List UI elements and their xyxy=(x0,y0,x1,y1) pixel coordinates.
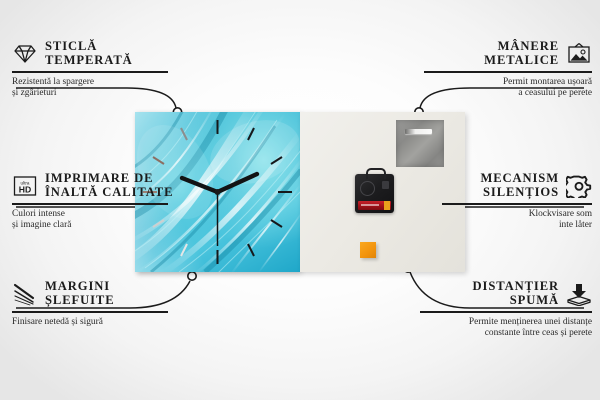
mechanism-knob xyxy=(382,181,389,189)
minute-hand xyxy=(218,174,258,192)
feature-subtitle-line: a ceasului pe perete xyxy=(410,88,592,100)
feature-title-line: DISTANȚIER xyxy=(473,280,559,294)
feature-title-line: MÂNERE xyxy=(484,40,559,54)
infographic-canvas: STICLĂ TEMPERATĂ Rezistentă la spargere … xyxy=(0,0,600,400)
feature-subtitle-line: Klockvisare som xyxy=(410,209,592,221)
feature-subtitle-line: Permit montarea ușoară xyxy=(410,77,592,89)
battery-terminal xyxy=(384,201,390,210)
svg-text:HD: HD xyxy=(19,184,31,194)
battery-band xyxy=(361,204,379,206)
feature-silent-mechanism: MECANISM SILENȚIOS Klockvisare som inte … xyxy=(410,172,592,232)
mechanism-hook xyxy=(366,168,386,179)
feature-title-line: SILENȚIOS xyxy=(480,186,559,200)
clock-mechanism xyxy=(355,174,394,213)
feature-subtitle-line: și imagine clară xyxy=(12,220,192,232)
diagonal-lines-icon xyxy=(12,282,38,306)
diamond-icon xyxy=(12,42,38,66)
battery xyxy=(358,201,391,210)
feature-divider xyxy=(420,311,592,312)
foam-spacer-pad xyxy=(360,242,376,258)
feature-title-line: METALICE xyxy=(484,54,559,68)
mechanism-dial xyxy=(360,181,375,196)
feature-title-line: MECANISM xyxy=(480,172,559,186)
feature-title-line: ȘLEFUITE xyxy=(45,294,115,308)
feature-divider xyxy=(12,203,168,204)
hands-center-cap xyxy=(215,189,221,195)
feature-divider xyxy=(442,203,592,204)
hanger-slot xyxy=(405,129,432,134)
feature-subtitle-line: Rezistentă la spargere xyxy=(12,77,192,89)
feature-title-line: ÎNALTĂ CALITATE xyxy=(45,186,173,200)
feature-polished-edges: MARGINI ȘLEFUITE Finisare netedă și sigu… xyxy=(12,280,192,328)
feature-subtitle-line: Culori intense xyxy=(12,209,192,221)
feature-foam-spacer: DISTANȚIER SPUMĂ Permite menținerea unei… xyxy=(406,280,592,340)
feature-subtitle-line: inte låter xyxy=(410,220,592,232)
feature-title-line: MARGINI xyxy=(45,280,115,294)
feature-subtitle-line: Permite menținerea unei distanțe xyxy=(406,317,592,329)
framed-picture-icon xyxy=(566,42,592,66)
feature-title-line: STICLĂ xyxy=(45,40,133,54)
feature-subtitle-line: Finisare netedă și sigură xyxy=(12,317,192,329)
gear-icon xyxy=(566,174,592,198)
down-arrow-pad-icon xyxy=(566,282,592,306)
feature-title-line: SPUMĂ xyxy=(473,294,559,308)
ultra-hd-icon: ultra HD xyxy=(12,174,38,198)
feature-divider xyxy=(424,71,592,72)
feature-title-line: IMPRIMARE DE xyxy=(45,172,173,186)
feature-tempered-glass: STICLĂ TEMPERATĂ Rezistentă la spargere … xyxy=(12,40,192,100)
feature-high-quality-print: ultra HD IMPRIMARE DE ÎNALTĂ CALITATE Cu… xyxy=(12,172,192,232)
feature-divider xyxy=(12,71,168,72)
feature-subtitle-line: constante între ceas și perete xyxy=(406,328,592,340)
feature-title-line: TEMPERATĂ xyxy=(45,54,133,68)
endpoint-edges xyxy=(188,272,196,280)
metal-hanger-plate xyxy=(396,120,444,167)
feature-divider xyxy=(12,311,168,312)
feature-subtitle-line: și zgârieturi xyxy=(12,88,192,100)
feature-metal-hangers: MÂNERE METALICE Permit montarea ușoară a… xyxy=(410,40,592,100)
